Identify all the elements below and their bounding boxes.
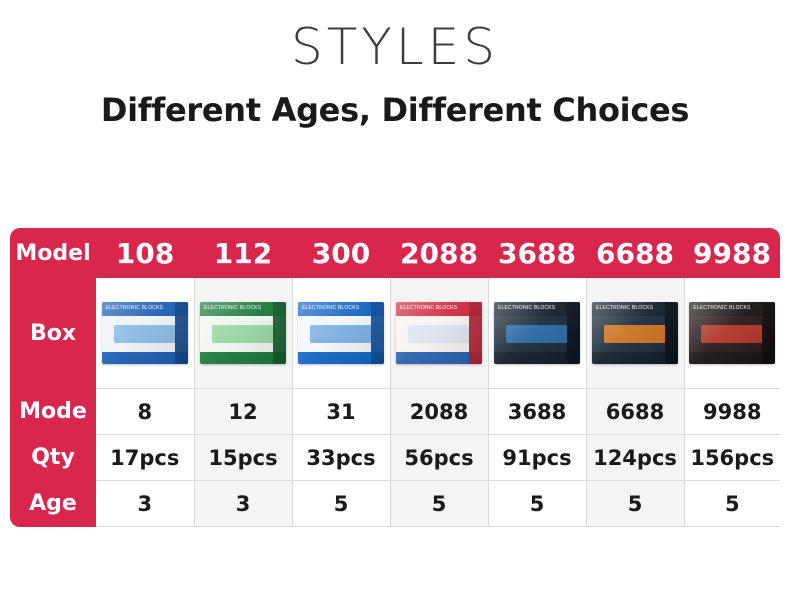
table-row-mode: Mode 8 12 31 2088 3688 6688 9988 <box>10 389 780 435</box>
age-value-5: 5 <box>586 481 684 527</box>
row-label-age: Age <box>10 481 96 527</box>
mode-value-6: 9988 <box>684 389 780 435</box>
product-box-9988: ELECTRONIC BLOCKS <box>689 302 775 364</box>
product-box-cell-3: ELECTRONIC BLOCKS <box>390 278 488 389</box>
table-row-age: Age 3 3 5 5 5 5 5 <box>10 481 780 527</box>
age-value-1: 3 <box>194 481 292 527</box>
product-box-300: ELECTRONIC BLOCKS <box>298 302 384 364</box>
product-box-cell-6: ELECTRONIC BLOCKS <box>684 278 780 389</box>
product-box-108: ELECTRONIC BLOCKS <box>102 302 188 364</box>
page-title: STYLES <box>0 0 790 72</box>
mode-value-0: 8 <box>96 389 194 435</box>
mode-value-2: 31 <box>292 389 390 435</box>
product-box-6688: ELECTRONIC BLOCKS <box>592 302 678 364</box>
qty-value-0: 17pcs <box>96 435 194 481</box>
mode-value-4: 3688 <box>488 389 586 435</box>
qty-value-1: 15pcs <box>194 435 292 481</box>
model-value-2: 300 <box>292 228 390 278</box>
spec-table-wrapper: Model 108 112 300 2088 3688 6688 9988 Bo… <box>10 228 780 527</box>
age-value-3: 5 <box>390 481 488 527</box>
age-value-6: 5 <box>684 481 780 527</box>
model-value-6: 9988 <box>684 228 780 278</box>
product-box-cell-5: ELECTRONIC BLOCKS <box>586 278 684 389</box>
qty-value-6: 156pcs <box>684 435 780 481</box>
page-subtitle: Different Ages, Different Choices <box>0 72 790 126</box>
product-box-cell-4: ELECTRONIC BLOCKS <box>488 278 586 389</box>
model-value-5: 6688 <box>586 228 684 278</box>
mode-value-3: 2088 <box>390 389 488 435</box>
qty-value-2: 33pcs <box>292 435 390 481</box>
product-box-112: ELECTRONIC BLOCKS <box>200 302 286 364</box>
age-value-4: 5 <box>488 481 586 527</box>
product-box-3688: ELECTRONIC BLOCKS <box>494 302 580 364</box>
spec-table: Model 108 112 300 2088 3688 6688 9988 Bo… <box>10 228 780 527</box>
table-row-qty: Qty 17pcs 15pcs 33pcs 56pcs 91pcs 124pcs… <box>10 435 780 481</box>
table-row-box: Box ELECTRONIC BLOCKS <box>10 278 780 389</box>
qty-value-4: 91pcs <box>488 435 586 481</box>
qty-value-3: 56pcs <box>390 435 488 481</box>
table-row-model: Model 108 112 300 2088 3688 6688 9988 <box>10 228 780 278</box>
age-value-2: 5 <box>292 481 390 527</box>
product-box-cell-2: ELECTRONIC BLOCKS <box>292 278 390 389</box>
age-value-0: 3 <box>96 481 194 527</box>
mode-value-1: 12 <box>194 389 292 435</box>
product-box-2088: ELECTRONIC BLOCKS <box>396 302 482 364</box>
qty-value-5: 124pcs <box>586 435 684 481</box>
row-label-model: Model <box>10 228 96 278</box>
styles-spec-page: STYLES Different Ages, Different Choices… <box>0 0 790 600</box>
model-value-1: 112 <box>194 228 292 278</box>
row-label-box: Box <box>10 278 96 389</box>
row-label-qty: Qty <box>10 435 96 481</box>
model-value-4: 3688 <box>488 228 586 278</box>
mode-value-5: 6688 <box>586 389 684 435</box>
row-label-mode: Mode <box>10 389 96 435</box>
product-box-cell-1: ELECTRONIC BLOCKS <box>194 278 292 389</box>
model-value-0: 108 <box>96 228 194 278</box>
product-box-cell-0: ELECTRONIC BLOCKS <box>96 278 194 389</box>
model-value-3: 2088 <box>390 228 488 278</box>
